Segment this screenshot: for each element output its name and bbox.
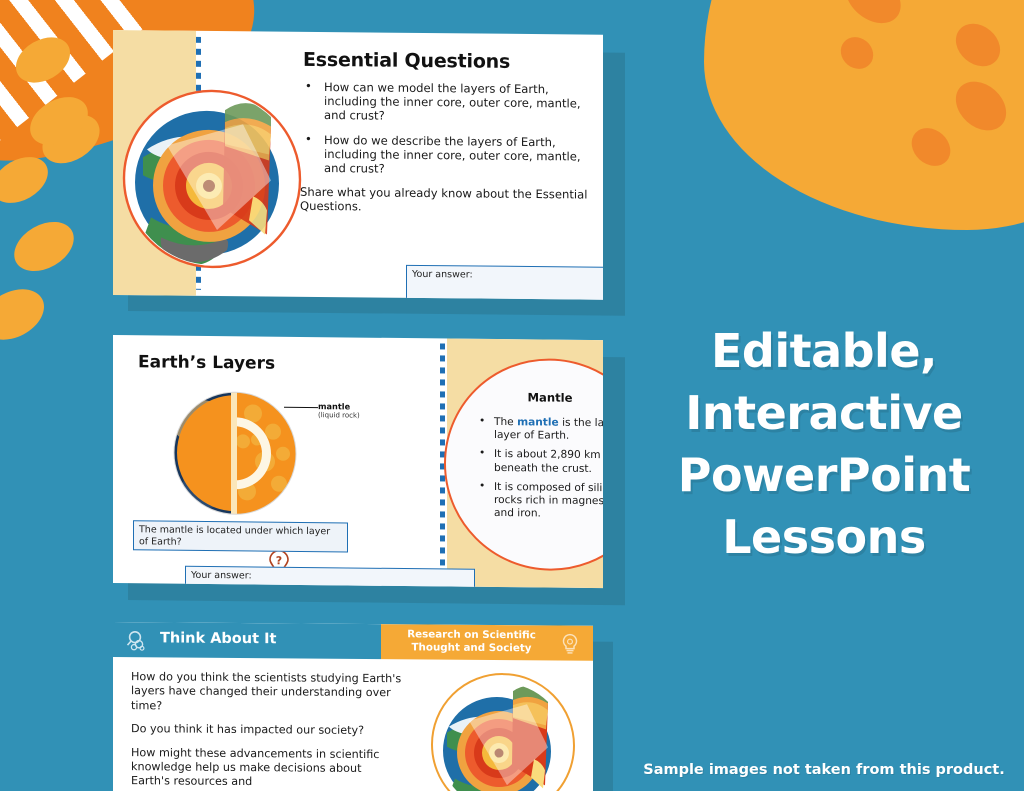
ellipse-decoration xyxy=(34,105,109,173)
slide-3-paragraph: How might these advancements in scientif… xyxy=(131,746,403,791)
slide-2-title: Earth’s Layers xyxy=(138,352,275,373)
mantle-bullet: The mantle is the largest layer of Earth… xyxy=(476,416,603,444)
magnifier-bubbles-icon xyxy=(125,630,149,652)
earth-cutaway-illustration xyxy=(435,677,571,791)
mantle-circle-bullets: The mantle is the largest layer of Earth… xyxy=(476,416,603,528)
slide-card-essential-questions[interactable]: Essential Questions How can we model the… xyxy=(113,30,603,300)
slide-card-think-about-it[interactable]: Think About It Research on Scientific Th… xyxy=(113,622,593,791)
ellipse-decoration xyxy=(835,0,911,34)
mantle-bullet: It is composed of silicate rocks rich in… xyxy=(476,481,603,522)
svg-text:?: ? xyxy=(276,554,282,567)
ellipse-decoration xyxy=(834,31,879,76)
slide-3-header-right-label: Research on Scientific Thought and Socie… xyxy=(389,628,554,655)
lightbulb-icon xyxy=(558,631,582,655)
slide-1-bullet-list: How can we model the layers of Earth, in… xyxy=(300,80,590,178)
poster-canvas: Essential Questions How can we model the… xyxy=(0,0,1024,791)
ellipse-decoration xyxy=(22,87,97,154)
headline-line: PowerPoint xyxy=(624,444,1024,506)
slide-1-body: How can we model the layers of Earth, in… xyxy=(300,80,590,216)
mantle-keyword: mantle xyxy=(517,416,559,428)
ellipse-decoration xyxy=(0,148,56,213)
slide-3-body: How do you think the scientists studying… xyxy=(131,670,403,791)
slide-1-bullet: How do we describe the layers of Earth, … xyxy=(300,132,590,177)
slide-3-image-circle xyxy=(431,672,575,791)
headline-line: Lessons xyxy=(624,506,1024,568)
orange-blob-top-right xyxy=(704,0,1024,230)
mantle-callout-sublabel: (liquid rock) xyxy=(318,411,360,419)
mantle-circle-heading: Mantle xyxy=(446,389,603,405)
ellipse-decoration xyxy=(904,120,958,173)
ellipse-decoration xyxy=(947,15,1008,75)
promo-headline: Editable, Interactive PowerPoint Lessons xyxy=(624,320,1024,568)
slide-3-header-left-label: Think About It xyxy=(160,630,276,647)
mantle-bullet: It is about 2,890 km beneath the crust. xyxy=(476,448,603,476)
slide-1-prompt: Share what you already know about the Es… xyxy=(300,185,590,216)
headline-line: Editable, xyxy=(624,320,1024,382)
earth-half-cutaway-illustration xyxy=(173,391,298,517)
slide-card-earths-layers[interactable]: Earth’s Layers mantle xyxy=(113,335,603,588)
slide-3-paragraph: Do you think it has impacted our society… xyxy=(131,722,403,739)
slide-3-paragraph: How do you think the scientists studying… xyxy=(131,670,403,715)
headline-line: Interactive xyxy=(624,382,1024,444)
ellipse-decoration xyxy=(8,28,78,92)
ellipse-decoration xyxy=(0,279,53,350)
slide-1-answer-input[interactable]: Your answer: xyxy=(406,265,603,300)
slide-1-title: Essential Questions xyxy=(303,49,510,73)
earth-cutaway-illustration xyxy=(121,87,303,271)
promo-disclaimer: Sample images not taken from this produc… xyxy=(624,762,1024,778)
ellipse-decoration xyxy=(946,72,1016,141)
slide-2-question-box[interactable]: The mantle is located under which layer … xyxy=(133,520,348,552)
mantle-callout-label: mantle xyxy=(318,401,350,411)
slide-1-bullet: How can we model the layers of Earth, in… xyxy=(300,80,590,125)
ellipse-decoration xyxy=(6,212,83,281)
